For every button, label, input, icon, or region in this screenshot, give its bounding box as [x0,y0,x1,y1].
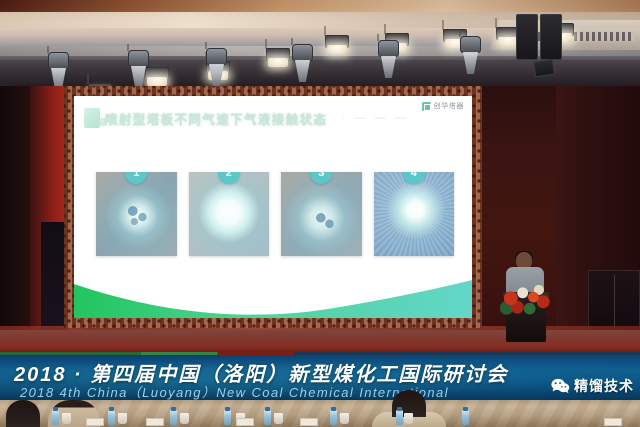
flower-arrangement [500,282,554,318]
panel-badge: 2 [218,172,240,184]
water-bottle [462,410,469,425]
company-logo-text: 创华塔器 [434,101,464,111]
photo-panel: 4 [374,172,455,256]
conference-hall-photo: 喷射型塔板不同气速下气液接触状态 · — — — 创华塔器 1 2 3 4 [0,0,640,427]
paper-cup [404,413,413,424]
watermark: 精馏技术 [551,376,634,396]
name-card [300,418,318,426]
name-card [604,418,622,426]
panel-badge: 3 [310,172,332,184]
watermark-text: 精馏技术 [574,376,634,396]
photo-panel: 2 [189,172,270,256]
ceiling [0,0,640,88]
speaker-at-podium [498,252,558,342]
water-bottle [224,410,231,425]
name-card [236,418,254,426]
paper-cup [118,413,127,424]
photo-panel: 1 [96,172,177,256]
wave-shape-icon [74,274,472,318]
panel-badge: 4 [403,172,425,184]
speaker-cabinet-icon [533,59,555,78]
paper-cup [274,413,283,424]
slide-title-dots: · — — — [342,112,409,124]
water-bottle [52,410,59,425]
attendee-head [6,400,40,427]
banner-english-title: 2018 4th China（Luoyang）New Coal Chemical… [20,382,449,401]
presentation-slide: 喷射型塔板不同气速下气液接触状态 · — — — 创华塔器 1 2 3 4 [74,96,472,318]
slide-wave-decoration [74,274,472,318]
name-card [86,418,104,426]
paper-cup [180,413,189,424]
paper-cup [340,413,349,424]
ceiling-band-warm [0,0,640,12]
panel-badge: 1 [125,172,147,184]
head-table-row [0,400,640,427]
water-bottle [264,410,271,425]
conference-banner: 2018 · 第四届中国（洛阳）新型煤化工国际研讨会 2018 4th Chin… [0,355,640,405]
company-logo-mark-icon [422,102,431,111]
water-bottle [170,410,177,425]
speaker-cabinet-icon [516,14,538,60]
wechat-logo-icon [551,378,570,394]
water-bottle [396,410,403,425]
paper-cup [62,413,71,424]
name-card [146,418,164,426]
slide-logo: 创华塔器 [422,101,464,111]
speaker-cabinet-icon [540,14,562,60]
equipment-rack [588,270,640,332]
water-bottle [108,410,115,425]
water-bottle [330,410,337,425]
slide-title: 喷射型塔板不同气速下气液接触状态 [105,109,327,128]
photo-panel: 3 [281,172,362,256]
photo-panel-group: 1 2 3 4 [96,172,454,256]
